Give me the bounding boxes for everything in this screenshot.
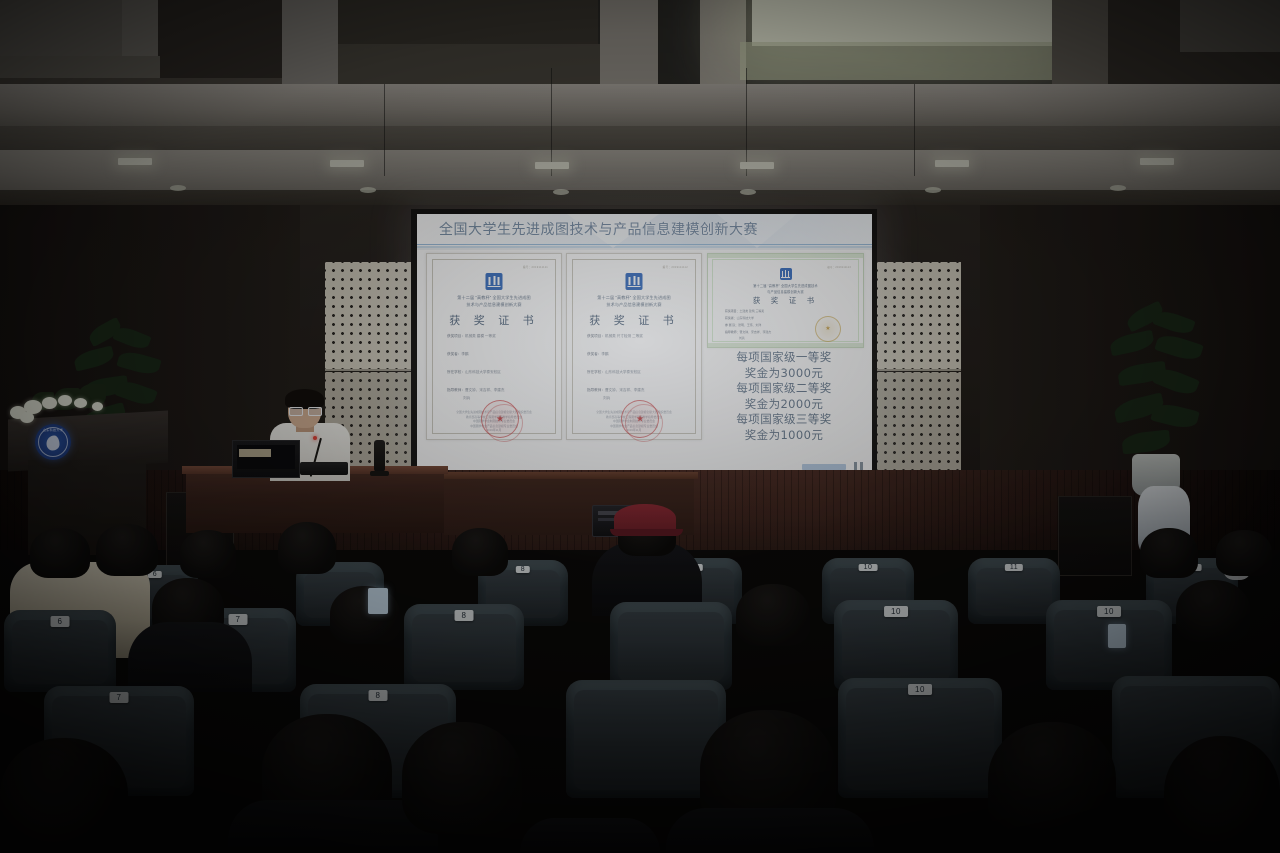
seat-number: 8 [516,566,530,573]
certificate-field: 获奖项目：机械类 尺寸检测 二等奖 [587,334,643,339]
audience-seating: 6 8 9 10 11 12 [0,500,1280,853]
seat-number: 10 [908,684,932,695]
glasses-icon [289,407,320,414]
perforated-acoustic-panel [877,372,961,477]
certificate-field: 指导教师：曹文钟、宋吉祥、李建杰 [725,330,771,334]
ceiling-wire [384,84,385,176]
prize-line: 奖金为2000元 [703,397,865,413]
certificate-field: 刘兵 [739,336,745,340]
downlight-small [925,187,941,193]
potted-plant-right [1096,306,1226,506]
certificate-field: 所在学校：山东科技大学泰安校区 [447,370,501,375]
ceiling-light-panel [752,0,1052,46]
audience-head [452,528,508,576]
seat-number: 10 [859,564,878,571]
seat-number: 10 [1097,606,1121,617]
prize-line: 奖金为3000元 [703,366,865,382]
maroon-baseball-cap [614,504,676,534]
audience-head [96,524,158,576]
audience-head [1140,528,1198,578]
certificate-field: 获奖者：李鹏 [447,352,469,357]
certificate-line1: 第十二届 “高教杯” 全国大学生先进成图技术 [713,283,858,288]
audience-shoulders-foreground [520,818,660,853]
desk-microphone [374,440,385,472]
official-seal: ★ [815,316,841,342]
certificate-line2: 与产品信息建模创新大赛 [713,289,858,294]
certificate-field: 指导教师：曹文钟、宋吉祥、李建杰 [587,388,645,393]
seat-number: 6 [51,616,70,627]
certificate-field: 所在学校：山东科技大学泰安校区 [587,370,641,375]
certificate-2: 编号：2019111112 第十二届 “高教杯” 全国大学生先进成图 技术与产品… [566,253,702,440]
official-seal: ★ [481,400,519,438]
prize-line: 奖金为1000元 [703,428,865,444]
lit-phone-screen [368,588,388,614]
prize-text-block: 每项国家级一等奖 奖金为3000元 每项国家级二等奖 奖金为2000元 每项国家… [703,350,865,444]
certificate-heading: 获 奖 证 书 [713,295,858,306]
prize-line: 每项国家级二等奖 [703,381,865,397]
downlight-small [553,189,569,195]
certificate-field: 刘兵 [603,396,610,401]
slide-header: 全国大学生先进成图技术与产品信息建模创新大赛 [417,214,872,248]
audience-head [180,530,236,578]
audience-shoulders [128,622,252,692]
certificate-code: 编号：2019111112 [663,265,688,269]
competition-logo-icon [626,273,643,290]
certificate-heading: 获 奖 证 书 [573,312,695,328]
seat[interactable]: 10 [834,600,958,690]
downlight-small [1110,185,1126,191]
competition-logo-icon [486,273,503,290]
lit-phone-screen [1108,624,1126,648]
certificate-heading: 获 奖 证 书 [433,312,555,328]
downlight-small [360,187,376,193]
audience-head [330,586,400,644]
certificate-field: 获奖者：山东科技大学 [725,316,754,320]
projection-screen: 全国大学生先进成图技术与产品信息建模创新大赛 编号：2019111111 第十二… [417,214,872,475]
certificate-field: 获奖者：李鹏 [587,352,609,357]
seat-number: 7 [229,614,248,625]
laptop-name-card [239,449,271,457]
university-emblem: 山东科技大学 [35,424,71,460]
audience-head-foreground [988,722,1116,840]
slide-body: 编号：2019111111 第十二届 “高教杯” 全国大学生先进成图 技术与产品… [417,250,872,475]
audience-head [1216,530,1272,576]
av-control-box[interactable] [300,462,348,475]
certificate-field: 参 赛 队：张明、王伟、刘洋 [725,323,761,327]
audience-head-foreground [1164,736,1280,853]
official-seal: ★ [621,400,659,438]
certificate-field: 获奖项目：机械类 建模 一等奖 [447,334,496,339]
prize-line: 每项国家级一等奖 [703,350,865,366]
prize-line: 每项国家级三等奖 [703,412,865,428]
seat-number: 11 [1005,564,1023,571]
perforated-acoustic-panel [325,262,411,370]
seat[interactable] [610,602,732,690]
rear-desk-top [440,472,698,479]
seat-number: 7 [110,692,129,703]
downlight [330,160,364,167]
slide-title: 全国大学生先进成图技术与产品信息建模创新大赛 [439,219,758,239]
certificate-line1: 第十二届 “高教杯” 全国大学生先进成图 [433,295,555,301]
seat[interactable]: 6 [4,610,116,692]
downlight-small [740,189,756,195]
audience-shoulders-foreground [666,808,874,853]
certificate-code: 编号：2019111111 [523,265,548,269]
downlight [118,158,152,165]
certificate-field: 指导教师：曹文钟、宋吉祥、李建杰 [447,388,505,393]
microphone-indicator-light [313,436,317,440]
presenter-hair [285,389,324,409]
ceiling-wire [914,84,915,176]
certificate-3: 编号：2019111113 第十二届 “高教杯” 全国大学生先进成图技术 与产品… [707,253,864,348]
downlight-small [170,185,186,191]
certificate-1: 编号：2019111111 第十二届 “高教杯” 全国大学生先进成图 技术与产品… [426,253,562,440]
downlight [535,162,569,169]
seat-number: 10 [884,606,908,617]
certificate-line2: 技术与产品信息建模创新大赛 [573,302,695,308]
audience-head [30,528,90,578]
certificate-line1: 第十二届 “高教杯” 全国大学生先进成图 [573,295,695,301]
downlight [935,160,969,167]
coffered-ceiling [0,0,1280,212]
audience-head [1176,580,1250,642]
white-flower-arrangement [6,392,136,426]
seat-number: 8 [369,690,388,701]
competition-logo-icon [780,268,792,280]
audience-head-foreground [402,722,522,834]
certificate-field: 刘兵 [463,396,470,401]
certificate-field: 获奖项目：土建类 建筑 三等奖 [725,309,764,313]
certificate-line2: 技术与产品信息建模创新大赛 [433,302,555,308]
certificate-code: 编号：2019111113 [827,265,851,269]
seat-number: 8 [455,610,474,621]
downlight [740,162,774,169]
audience-head [278,522,336,574]
seat[interactable]: 8 [404,604,524,690]
downlight [1140,158,1174,165]
ceiling-wire [746,68,747,176]
auditorium-photo: 全国大学生先进成图技术与产品信息建模创新大赛 编号：2019111111 第十二… [0,0,1280,853]
audience-head [736,584,810,646]
laptop[interactable] [232,440,300,478]
seat[interactable]: 10 [838,678,1002,798]
emblem-text: 山东科技大学 [35,428,71,432]
perforated-acoustic-panel [877,262,961,370]
audience-head-foreground [0,738,128,853]
ceiling-wire [551,68,552,176]
